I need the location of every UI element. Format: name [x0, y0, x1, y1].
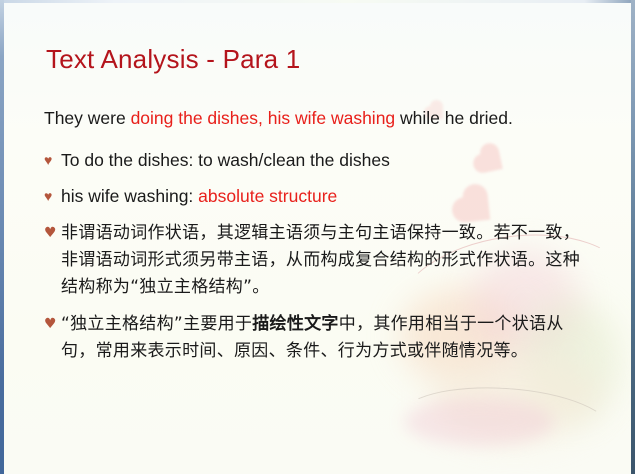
- sentence-highlight: doing the dishes, his wife washing: [131, 108, 396, 128]
- slide-frame-right: [631, 0, 635, 474]
- slide-title: Text Analysis - Para 1: [46, 44, 300, 75]
- sentence-tail: while he dried.: [395, 108, 513, 128]
- heart-bullet-icon: ♥: [44, 315, 57, 333]
- bullet-text-cn: 非谓语动词作状语，其逻辑主语须与主句主语保持一致。若不一致，非谓语动词形式须另带…: [61, 223, 580, 297]
- bullet-item-absolute-structure-usage: ♥“独立主格结构”主要用于描绘性文字中，其作用相当于一个状语从句，常用来表示时间…: [44, 311, 589, 365]
- bullet-text: his wife washing:: [61, 186, 198, 206]
- bullet-text-cn-emphasis: 描绘性文字: [252, 314, 339, 334]
- bullet-text-highlight: absolute structure: [198, 186, 337, 206]
- sentence-lead: They were: [44, 108, 131, 128]
- slide-frame-left: [0, 0, 4, 474]
- bullet-item-to-do-the-dishes: ♥To do the dishes: to wash/clean the dis…: [44, 148, 589, 172]
- heart-bullet-icon: ♥: [44, 187, 52, 205]
- heart-bullet-icon: ♥: [44, 224, 57, 242]
- heart-bullet-icon: ♥: [44, 151, 52, 169]
- bullet-item-absolute-structure-definition: ♥非谓语动词作状语，其逻辑主语须与主句主语保持一致。若不一致，非谓语动词形式须另…: [44, 220, 589, 301]
- presentation-slide: Text Analysis - Para 1 They were doing t…: [0, 0, 635, 474]
- bullet-text: To do the dishes: to wash/clean the dish…: [61, 150, 390, 170]
- bullet-item-his-wife-washing: ♥his wife washing: absolute structure: [44, 184, 589, 208]
- bullet-text-cn-lead: “独立主格结构”主要用于: [61, 314, 252, 334]
- slide-frame-top: [0, 0, 635, 3]
- analysis-sentence: They were doing the dishes, his wife was…: [44, 106, 589, 130]
- slide-body: They were doing the dishes, his wife was…: [44, 106, 589, 375]
